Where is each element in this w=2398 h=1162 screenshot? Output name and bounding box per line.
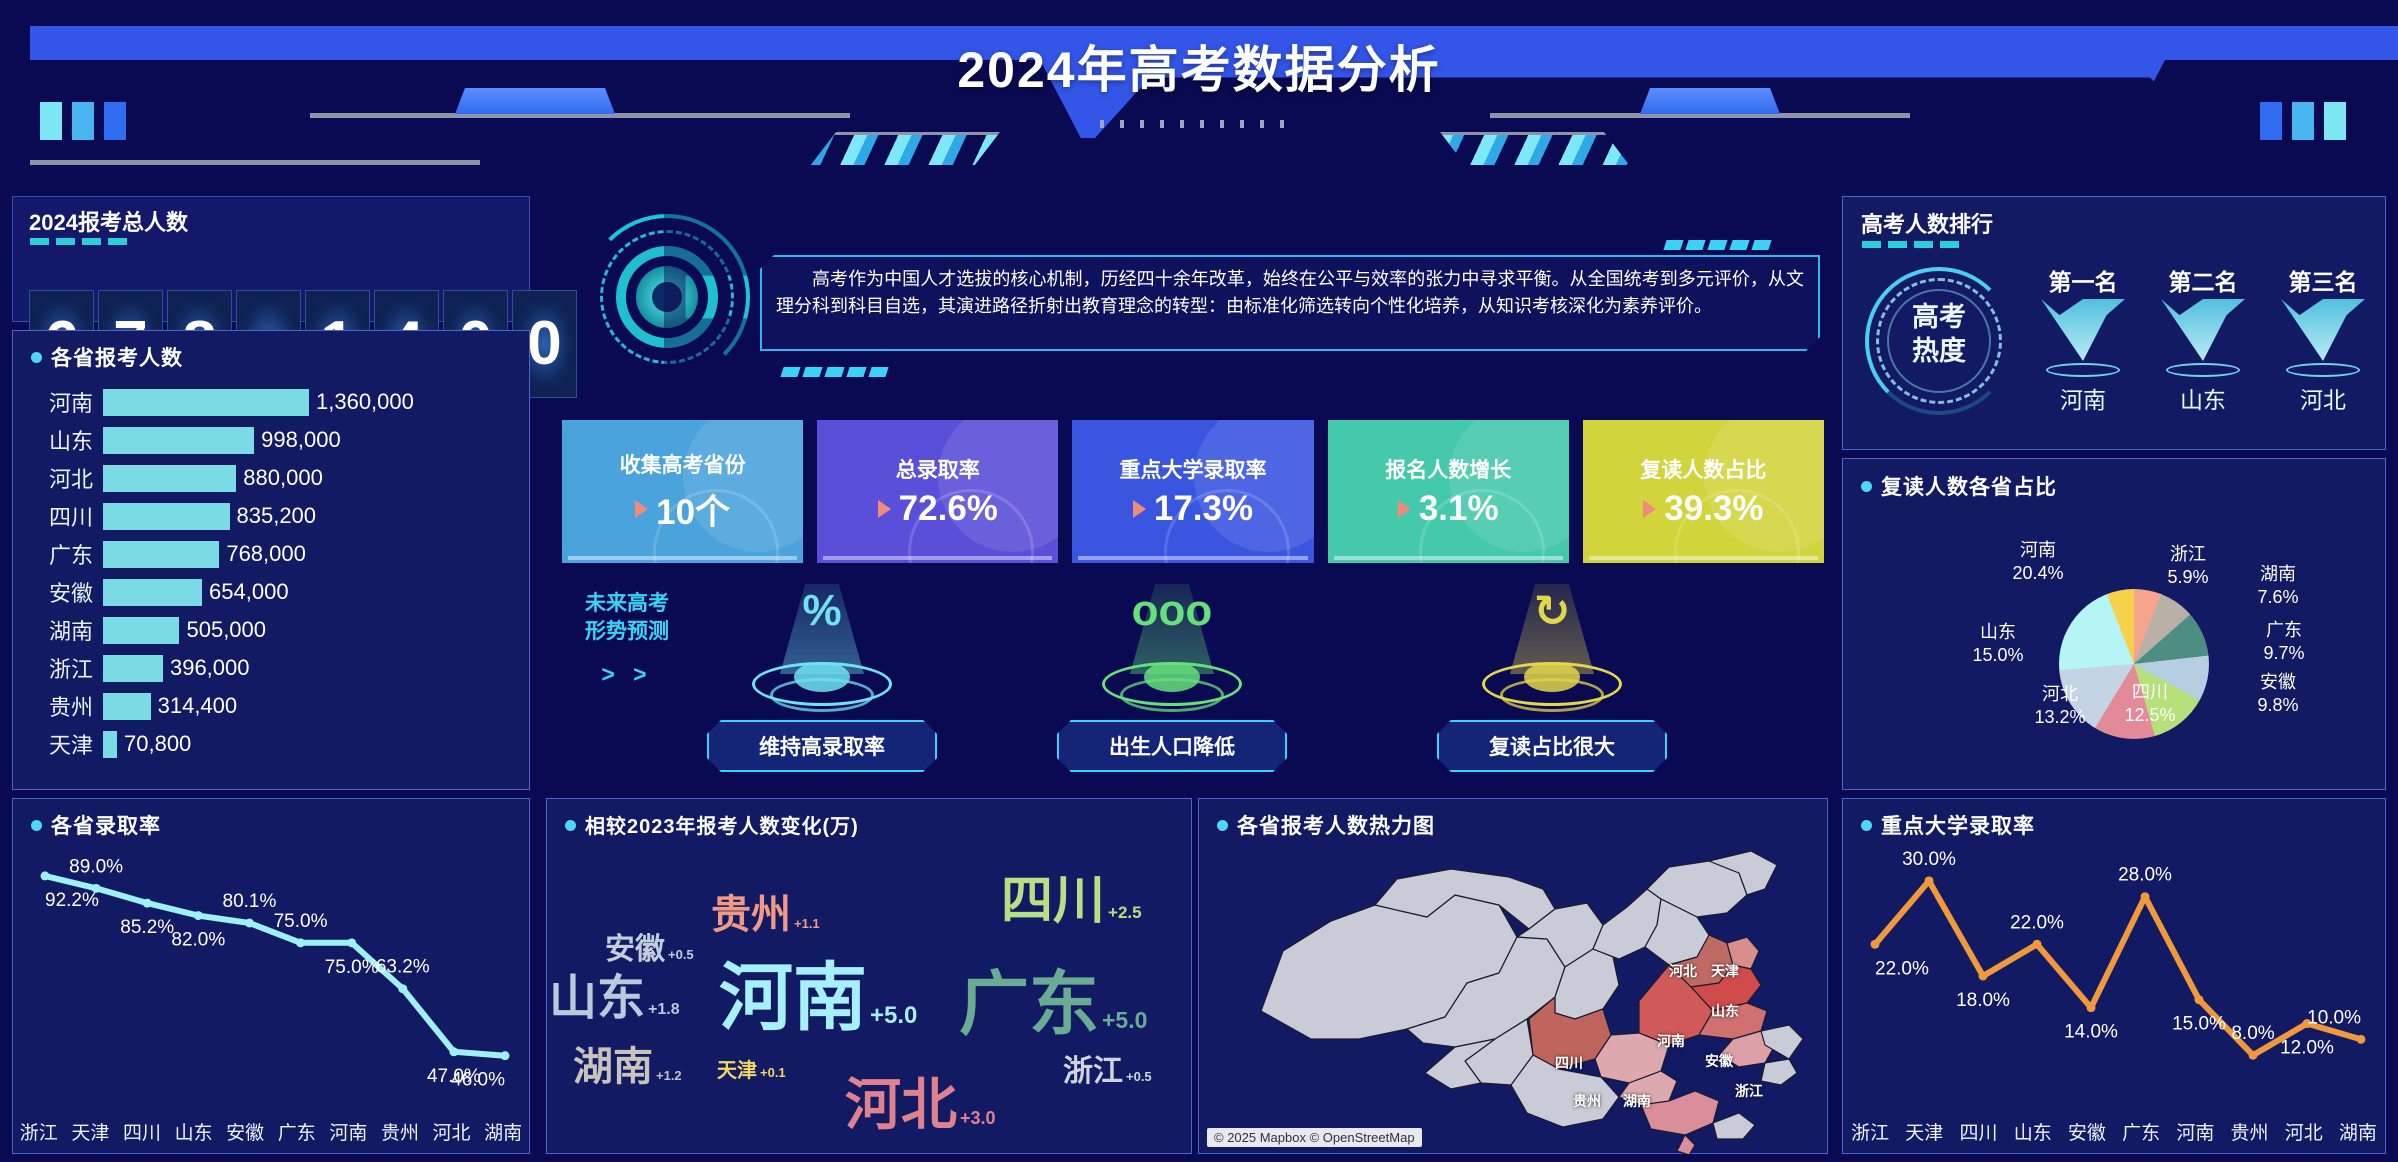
wordcloud-word-delta: +3.0 xyxy=(960,1108,996,1128)
pie-slice-value: 13.2% xyxy=(2015,706,2105,729)
forecast-hologram-stage: % xyxy=(692,578,952,718)
arrow-base-ellipse-icon xyxy=(2046,363,2120,377)
triangle-marker-icon xyxy=(1398,500,1411,518)
line-data-label: 63.2% xyxy=(376,957,430,978)
axis-tick-label: 山东 xyxy=(168,1118,220,1145)
pie-slice-label: 河南20.4% xyxy=(1993,539,2083,584)
arrow-base-ellipse-icon xyxy=(2166,363,2240,377)
province-bar-fill xyxy=(103,389,309,416)
wordcloud-area: 河南+5.0广东+5.0河北+3.0四川+2.5山东+1.8湖南+1.2贵州+1… xyxy=(547,839,1193,1151)
ranking-province-label: 河南 xyxy=(2023,381,2143,415)
ranking-place-label: 第二名 xyxy=(2143,263,2263,297)
line-data-label: 14.0% xyxy=(2064,1022,2118,1043)
province-bar-track xyxy=(103,427,254,454)
kpi-card[interactable]: 报名人数增长3.1% xyxy=(1328,420,1569,563)
header-square-2 xyxy=(72,102,94,140)
pie-slice-label: 浙江5.9% xyxy=(2143,543,2233,588)
wordcloud-word-delta: +2.5 xyxy=(1108,903,1142,922)
kpi-card-label: 总录取率 xyxy=(896,454,980,484)
ranking-column: 第三名河北 xyxy=(2263,263,2383,415)
line-data-label: 22.0% xyxy=(1875,958,1929,979)
kpi-card-value-row: 17.3% xyxy=(1133,489,1253,529)
pie-slice-label: 山东15.0% xyxy=(1953,621,2043,666)
line-data-label: 92.2% xyxy=(45,890,99,911)
province-bar-track xyxy=(103,503,230,530)
forecast-section: 未来高考 形势预测 > > %维持高录取率ooo出生人口降低↻复读占比很大 xyxy=(562,578,1824,786)
province-bar-track xyxy=(103,617,179,644)
line-data-point xyxy=(1871,940,1880,949)
pie-slice-value: 5.9% xyxy=(2143,566,2233,589)
header-square-1 xyxy=(40,102,62,140)
line-data-point xyxy=(194,911,203,920)
wordcloud-word-text: 湖南 xyxy=(573,1045,653,1089)
wordcloud-word: 河北+3.0 xyxy=(845,1077,996,1133)
ranking-title: 高考人数排行 xyxy=(1861,207,1993,239)
axis-tick-label: 广东 xyxy=(271,1118,323,1145)
wordcloud-word: 山东+1.8 xyxy=(549,975,680,1023)
province-bar-track xyxy=(103,541,219,568)
province-bar-track xyxy=(103,579,202,606)
axis-tick-label: 浙江 xyxy=(1843,1118,1897,1145)
applicant-change-wordcloud-panel: 相较2023年报考人数变化(万) 河南+5.0广东+5.0河北+3.0四川+2.… xyxy=(546,798,1192,1154)
arrow-base-ellipse-icon xyxy=(2286,363,2360,377)
triangle-marker-icon xyxy=(1133,500,1146,518)
axis-tick-label: 贵州 xyxy=(2222,1118,2276,1145)
pie-slice-name: 四川 xyxy=(2105,681,2195,704)
kpi-card[interactable]: 复读人数占比39.3% xyxy=(1583,420,1824,563)
pie-slice-label: 四川12.5% xyxy=(2105,681,2195,726)
wordcloud-word-delta: +1.8 xyxy=(648,1001,680,1018)
line-data-label: 15.0% xyxy=(2172,1014,2226,1035)
kpi-card-value-row: 72.6% xyxy=(878,489,998,529)
pie-slice-name: 浙江 xyxy=(2143,543,2233,566)
uni-axis-labels: 浙江天津四川山东安徽广东河南贵州河北湖南 xyxy=(1843,1118,2385,1145)
wordcloud-word-text: 天津 xyxy=(717,1060,757,1082)
header-tick-decor xyxy=(1100,120,1300,128)
kpi-card-underline xyxy=(568,556,797,560)
line-data-label: 22.0% xyxy=(2010,912,2064,933)
province-bar-fill xyxy=(103,579,202,606)
triangle-marker-icon xyxy=(1643,500,1656,518)
forecast-chevron-icon: > > xyxy=(562,661,692,688)
province-admission-rate-panel: 各省录取率 92.2%89.0%85.2%82.0%80.1%75.0%75.0… xyxy=(12,798,530,1154)
forecast-label-line2: 形势预测 xyxy=(562,618,692,646)
kpi-card[interactable]: 重点大学录取率17.3% xyxy=(1072,420,1313,563)
forecast-label-line1: 未来高考 xyxy=(562,590,692,618)
map-province-label: 安徽 xyxy=(1705,1051,1733,1071)
china-map[interactable]: 河北天津山东河南安徽浙江四川贵州湖南 © 2025 Mapbox © OpenS… xyxy=(1199,833,1829,1155)
province-bar-row: 河北880,000 xyxy=(25,459,519,497)
kpi-card-label: 复读人数占比 xyxy=(1640,454,1766,484)
intro-tick-decor-top xyxy=(1665,240,1770,250)
kpi-card-underline xyxy=(1078,556,1307,560)
line-data-label: 80.1% xyxy=(223,891,277,912)
pie-slice-value: 20.4% xyxy=(1993,562,2083,585)
intro-text-box: 高考作为中国人才选拔的核心机制，历经四十余年改革，始终在公平与效率的张力中寻求平… xyxy=(760,255,1820,351)
line-data-point xyxy=(1925,876,1934,885)
map-province-label: 天津 xyxy=(1711,961,1739,981)
header-stripes-right-icon xyxy=(1440,132,1630,165)
wordcloud-word: 四川+2.5 xyxy=(1001,875,1142,927)
axis-tick-label: 四川 xyxy=(116,1118,168,1145)
wordcloud-word-delta: +1.1 xyxy=(794,916,820,931)
province-bar-fill xyxy=(103,503,230,530)
kpi-card-value: 17.3% xyxy=(1154,489,1253,529)
ranking-panel: 高考人数排行 高考热度 第一名河南第二名山东第三名河北 xyxy=(1842,196,2386,450)
wordcloud-word: 贵州+1.1 xyxy=(711,895,820,935)
forecast-button[interactable]: 复读占比很大 xyxy=(1437,720,1667,772)
wordcloud-word: 广东+5.0 xyxy=(959,969,1147,1039)
province-bar-track xyxy=(103,465,236,492)
title-dash-decor xyxy=(30,238,127,245)
axis-tick-label: 天津 xyxy=(1897,1118,1951,1145)
province-bar-track xyxy=(103,731,117,758)
hologram-core-icon xyxy=(1144,662,1200,692)
province-bar-fill xyxy=(103,693,151,720)
orb-text: 高考热度 xyxy=(1865,301,2013,369)
wordcloud-word-delta: +1.2 xyxy=(656,1068,682,1083)
line-data-label: 8.0% xyxy=(2231,1023,2274,1044)
applicant-heatmap-panel: 各省报考人数热力图 xyxy=(1198,798,1828,1154)
province-bar-fill xyxy=(103,541,219,568)
triangle-marker-icon xyxy=(878,500,891,518)
wordcloud-word: 浙江+0.5 xyxy=(1063,1057,1152,1087)
hologram-core-icon xyxy=(1524,662,1580,692)
total-applicants-panel: 2024报考总人数 678,1400 xyxy=(12,196,530,322)
axis-tick-label: 河南 xyxy=(2168,1118,2222,1145)
wordcloud-word-text: 贵州 xyxy=(711,893,791,937)
forecast-button-label: 复读占比很大 xyxy=(1489,731,1615,761)
line-data-label: 85.2% xyxy=(120,917,174,938)
line-data-point xyxy=(2249,1051,2258,1060)
axis-tick-label: 河北 xyxy=(2277,1118,2331,1145)
wordcloud-word-delta: +0.5 xyxy=(1126,1069,1152,1084)
ranking-place-label: 第三名 xyxy=(2263,263,2383,297)
wordcloud-word-text: 浙江 xyxy=(1063,1055,1123,1088)
province-applicants-title: 各省报考人数 xyxy=(31,342,183,372)
header-square-6 xyxy=(2324,102,2346,140)
line-data-label: 46.0% xyxy=(451,1070,505,1091)
kpi-card-underline xyxy=(1334,556,1563,560)
province-bar-label: 广东 xyxy=(25,538,103,570)
odometer-digit-value: 0 xyxy=(527,313,561,375)
kpi-card-value-row: 39.3% xyxy=(1643,489,1763,529)
kpi-card-label: 报名人数增长 xyxy=(1385,454,1511,484)
forecast-glyph-icon: ooo xyxy=(1132,586,1213,636)
hologram-core-icon xyxy=(794,662,850,692)
total-applicants-title: 2024报考总人数 xyxy=(29,205,188,237)
province-bar-value: 1,360,000 xyxy=(316,389,414,415)
forecast-hologram-stage: ooo xyxy=(1042,578,1302,718)
province-bar-value: 314,400 xyxy=(158,693,238,719)
province-bar-label: 安徽 xyxy=(25,576,103,608)
kpi-card-value-row: 3.1% xyxy=(1398,489,1499,529)
forecast-button[interactable]: 出生人口降低 xyxy=(1057,720,1287,772)
header-stripes-left-icon xyxy=(810,132,1000,165)
map-province-label: 湖南 xyxy=(1623,1091,1651,1111)
line-series-path xyxy=(1875,881,2361,1055)
ranking-column: 第一名河南 xyxy=(2023,263,2143,415)
province-bar-value: 654,000 xyxy=(209,579,289,605)
province-bar-value: 505,000 xyxy=(186,617,266,643)
line-data-label: 10.0% xyxy=(2307,1007,2361,1028)
province-bar-label: 湖南 xyxy=(25,614,103,646)
province-bar-list: 河南1,360,000山东998,000河北880,000四川835,200广东… xyxy=(25,383,519,763)
line-data-point xyxy=(143,899,152,908)
ranking-place-label: 第一名 xyxy=(2023,263,2143,297)
pie-slice-name: 广东 xyxy=(2239,619,2329,642)
forecast-label: 未来高考 形势预测 > > xyxy=(562,590,692,688)
intro-paragraph: 高考作为中国人才选拔的核心机制，历经四十余年改革，始终在公平与效率的张力中寻求平… xyxy=(776,266,1804,321)
province-bar-fill xyxy=(103,655,163,682)
down-arrow-icon xyxy=(2281,299,2365,361)
province-bar-value: 768,000 xyxy=(226,541,306,567)
line-data-label: 82.0% xyxy=(171,930,225,951)
province-bar-label: 浙江 xyxy=(25,652,103,684)
pie-slice-value: 7.6% xyxy=(2233,586,2323,609)
wordcloud-word-text: 河南 xyxy=(719,956,867,1039)
axis-tick-label: 安徽 xyxy=(219,1118,271,1145)
province-bar-label: 山东 xyxy=(25,424,103,456)
line-data-point xyxy=(2357,1035,2366,1044)
province-bar-track xyxy=(103,655,163,682)
map-province-label: 河北 xyxy=(1669,961,1697,981)
wordcloud-word-text: 四川 xyxy=(1001,872,1105,930)
kpi-card[interactable]: 总录取率72.6% xyxy=(817,420,1058,563)
rate-axis-labels: 浙江天津四川山东安徽广东河南贵州河北湖南 xyxy=(13,1118,529,1145)
province-applicants-panel: 各省报考人数 河南1,360,000山东998,000河北880,000四川83… xyxy=(12,330,530,790)
province-bar-row: 湖南505,000 xyxy=(25,611,519,649)
province-bar-value: 998,000 xyxy=(261,427,341,453)
kpi-card-value: 3.1% xyxy=(1419,489,1499,529)
line-data-label: 89.0% xyxy=(69,856,123,877)
forecast-item: %维持高录取率 xyxy=(692,578,952,772)
line-data-point xyxy=(2033,940,2042,949)
wordcloud-word-delta: +5.0 xyxy=(1102,1007,1147,1033)
applicant-change-wordcloud-title: 相较2023年报考人数变化(万) xyxy=(565,810,859,839)
axis-tick-label: 浙江 xyxy=(13,1118,65,1145)
pie-slice-label: 湖南7.6% xyxy=(2233,563,2323,608)
intro-tick-decor-bottom xyxy=(782,367,887,377)
header-rule-bottom-left xyxy=(30,160,480,165)
axis-tick-label: 山东 xyxy=(2006,1118,2060,1145)
province-bar-label: 四川 xyxy=(25,500,103,532)
forecast-button[interactable]: 维持高录取率 xyxy=(707,720,937,772)
province-bar-value: 880,000 xyxy=(243,465,323,491)
china-map-svg xyxy=(1199,833,1829,1155)
province-bar-label: 河南 xyxy=(25,386,103,418)
province-bar-value: 835,200 xyxy=(237,503,317,529)
page-title: 2024年高考数据分析 xyxy=(0,30,2398,102)
ranking-province-label: 河北 xyxy=(2263,381,2383,415)
province-bar-fill xyxy=(103,427,254,454)
province-bar-row: 四川835,200 xyxy=(25,497,519,535)
kpi-card-label: 重点大学录取率 xyxy=(1120,454,1267,484)
wordcloud-word-text: 山东 xyxy=(549,972,645,1025)
axis-tick-label: 河南 xyxy=(323,1118,375,1145)
province-bar-track xyxy=(103,693,151,720)
line-data-label: 30.0% xyxy=(1902,849,1956,870)
ranking-column: 第二名山东 xyxy=(2143,263,2263,415)
bullet-dot-icon xyxy=(1861,820,1872,831)
province-bar-label: 天津 xyxy=(25,728,103,760)
province-bar-row: 广东768,000 xyxy=(25,535,519,573)
line-data-point xyxy=(92,884,101,893)
kpi-card-underline xyxy=(1589,556,1818,560)
province-bar-row: 安徽654,000 xyxy=(25,573,519,611)
pie-slice-value: 12.5% xyxy=(2105,704,2195,727)
ranking-province-label: 山东 xyxy=(2143,381,2263,415)
header-square-3 xyxy=(104,102,126,140)
pie-slice-name: 安徽 xyxy=(2233,671,2323,694)
province-bar-row: 浙江396,000 xyxy=(25,649,519,687)
forecast-item: ooo出生人口降低 xyxy=(1042,578,1302,772)
map-province-label: 山东 xyxy=(1711,1001,1739,1021)
line-data-label: 75.0% xyxy=(325,957,379,978)
forecast-glyph-icon: ↻ xyxy=(1534,586,1571,637)
wordcloud-word: 安徽+0.5 xyxy=(605,935,694,965)
kpi-card-row: 收集高考省份10个总录取率72.6%重点大学录取率17.3%报名人数增长3.1%… xyxy=(562,420,1824,563)
bullet-dot-icon xyxy=(1217,820,1228,831)
province-bar-fill xyxy=(103,731,117,758)
map-province-label: 四川 xyxy=(1555,1053,1583,1073)
province-bar-value: 70,800 xyxy=(124,731,191,757)
bullet-dot-icon xyxy=(31,820,42,831)
radar-badge-icon xyxy=(578,208,756,386)
kpi-card[interactable]: 收集高考省份10个 xyxy=(562,420,803,563)
uni-line-chart: 22.0%30.0%18.0%22.0%14.0%28.0%15.0%8.0%1… xyxy=(1843,835,2387,1105)
line-data-point xyxy=(245,918,254,927)
repeat-student-pie-panel: 复读人数各省占比 浙江5.9%湖南7.6%广东9.7%安徽9.8%四川12.5%… xyxy=(1842,458,2386,790)
pie-slice-label: 广东9.7% xyxy=(2239,619,2329,664)
line-data-label: 12.0% xyxy=(2280,1038,2334,1059)
wordcloud-word-delta: +0.1 xyxy=(760,1065,786,1080)
forecast-button-label: 出生人口降低 xyxy=(1109,731,1235,761)
axis-tick-label: 广东 xyxy=(2114,1118,2168,1145)
triangle-marker-icon xyxy=(635,500,648,518)
map-province-label: 浙江 xyxy=(1735,1081,1763,1101)
line-data-point xyxy=(2087,1003,2096,1012)
line-data-label: 75.0% xyxy=(274,911,328,932)
axis-tick-label: 安徽 xyxy=(2060,1118,2114,1145)
pie-slice-value: 15.0% xyxy=(1953,644,2043,667)
province-bar-row: 天津70,800 xyxy=(25,725,519,763)
province-bar-value: 396,000 xyxy=(170,655,250,681)
province-bar-fill xyxy=(103,465,236,492)
pie-slice-name: 河北 xyxy=(2015,683,2105,706)
bullet-dot-icon xyxy=(565,820,576,831)
line-data-point xyxy=(296,938,305,947)
map-attribution: © 2025 Mapbox © OpenStreetMap xyxy=(1207,1128,1422,1147)
dashboard-root: 2024年高考数据分析 2024报考总人数 678,1400 各省报考人数 河南… xyxy=(0,0,2398,1162)
line-data-label: 18.0% xyxy=(1956,990,2010,1011)
kpi-card-underline xyxy=(823,556,1052,560)
kpi-card-value: 10个 xyxy=(656,484,730,535)
axis-tick-label: 天津 xyxy=(65,1118,117,1145)
pie-chart: 浙江5.9%湖南7.6%广东9.7%安徽9.8%四川12.5%河北13.2%山东… xyxy=(1843,459,2387,791)
down-arrow-icon xyxy=(2041,299,2125,361)
axis-tick-label: 湖南 xyxy=(477,1118,529,1145)
kpi-card-value: 72.6% xyxy=(899,489,998,529)
province-bar-row: 河南1,360,000 xyxy=(25,383,519,421)
line-data-point xyxy=(2195,995,2204,1004)
rate-line-chart: 92.2%89.0%85.2%82.0%80.1%75.0%75.0%63.2%… xyxy=(13,835,531,1105)
forecast-hologram-stage: ↻ xyxy=(1422,578,1682,718)
forecast-button-label: 维持高录取率 xyxy=(759,731,885,761)
wordcloud-word-text: 广东 xyxy=(959,965,1099,1043)
down-arrow-icon xyxy=(2161,299,2245,361)
line-data-label: 28.0% xyxy=(2118,865,2172,886)
axis-tick-label: 湖南 xyxy=(2331,1118,2385,1145)
province-bar-label: 贵州 xyxy=(25,690,103,722)
kpi-card-value: 39.3% xyxy=(1664,489,1763,529)
line-data-point xyxy=(501,1051,510,1060)
wordcloud-word: 天津+0.1 xyxy=(717,1061,786,1081)
dashboard-header: 2024年高考数据分析 xyxy=(0,0,2398,165)
wordcloud-word-delta: +0.5 xyxy=(668,947,694,962)
pie-slice-name: 河南 xyxy=(1993,539,2083,562)
province-bar-track xyxy=(103,389,309,416)
wordcloud-word-text: 河北 xyxy=(845,1073,957,1136)
pie-slice-label: 安徽9.8% xyxy=(2233,671,2323,716)
ranking-dash-decor xyxy=(1862,241,1959,248)
line-data-point xyxy=(398,984,407,993)
province-bar-row: 山东998,000 xyxy=(25,421,519,459)
pie-slice-label: 河北13.2% xyxy=(2015,683,2105,728)
hotness-orb-icon: 高考热度 xyxy=(1865,267,2013,415)
axis-tick-label: 四川 xyxy=(1951,1118,2005,1145)
line-data-point xyxy=(1979,971,1988,980)
kpi-card-value-row: 10个 xyxy=(635,484,730,535)
wordcloud-word: 河南+5.0 xyxy=(719,961,917,1035)
forecast-glyph-icon: % xyxy=(802,586,841,636)
wordcloud-word-delta: +5.0 xyxy=(870,1002,917,1029)
province-bar-label: 河北 xyxy=(25,462,103,494)
province-bar-row: 贵州314,400 xyxy=(25,687,519,725)
line-data-point xyxy=(347,938,356,947)
pie-slice-name: 湖南 xyxy=(2233,563,2323,586)
line-data-point xyxy=(449,1047,458,1056)
axis-tick-label: 河北 xyxy=(426,1118,478,1145)
bullet-dot-icon xyxy=(31,352,42,363)
axis-tick-label: 贵州 xyxy=(374,1118,426,1145)
pie-slice-value: 9.7% xyxy=(2239,642,2329,665)
wordcloud-word: 湖南+1.2 xyxy=(573,1047,682,1087)
pie-slice-value: 9.8% xyxy=(2233,694,2323,717)
wordcloud-word-text: 安徽 xyxy=(605,933,665,966)
header-square-4 xyxy=(2260,102,2282,140)
header-square-5 xyxy=(2292,102,2314,140)
pie-slice-name: 山东 xyxy=(1953,621,2043,644)
map-province-label: 贵州 xyxy=(1573,1091,1601,1111)
key-university-rate-panel: 重点大学录取率 22.0%30.0%18.0%22.0%14.0%28.0%15… xyxy=(1842,798,2386,1154)
province-bar-fill xyxy=(103,617,179,644)
map-province-label: 河南 xyxy=(1657,1031,1685,1051)
intro-section: 高考作为中国人才选拔的核心机制，历经四十余年改革，始终在公平与效率的张力中寻求平… xyxy=(560,200,1828,400)
line-data-point xyxy=(2141,892,2150,901)
line-data-point xyxy=(41,871,50,880)
forecast-item: ↻复读占比很大 xyxy=(1422,578,1682,772)
kpi-card-label: 收集高考省份 xyxy=(620,449,746,479)
